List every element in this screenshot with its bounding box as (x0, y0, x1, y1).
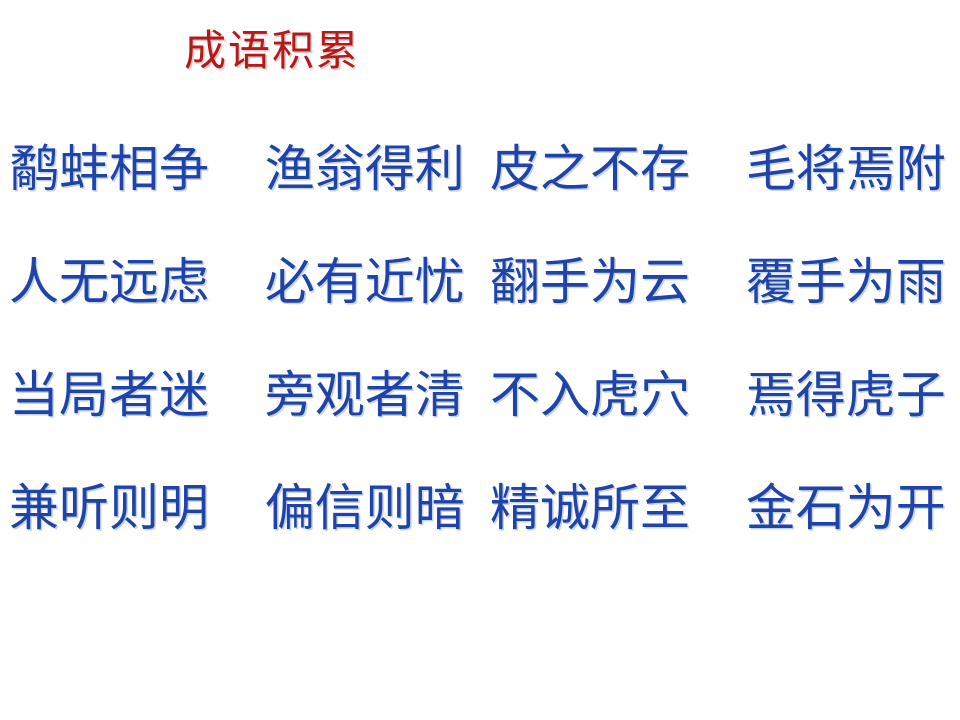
presentation-slide: 成语积累 鹬蚌相争 渔翁得利 皮之不存 毛将焉附 人无远虑 必有近忧 翻手 (0, 0, 960, 720)
idiom-first-half: 鹬蚌相争 (9, 140, 209, 198)
idiom-first-half: 精诚所至 (490, 479, 690, 537)
idiom-pair-left: 鹬蚌相争 渔翁得利 (9, 138, 465, 200)
idiom-pair-left: 兼听则明 偏信则暗 (9, 477, 465, 539)
idiom-first-half: 兼听则明 (9, 479, 209, 537)
idiom-second-half: 毛将焉附 (746, 140, 946, 198)
idiom-pair-left: 当局者迷 旁观者清 (9, 364, 465, 426)
idiom-row: 人无远虑 必有近忧 翻手为云 覆手为雨 (0, 251, 960, 364)
page-title: 成语积累 (184, 24, 360, 78)
idiom-second-half: 偏信则暗 (265, 479, 465, 537)
idiom-pair-right: 不入虎穴 焉得虎子 (490, 364, 946, 426)
idiom-pair-right: 皮之不存 毛将焉附 (490, 138, 946, 200)
idiom-first-half: 皮之不存 (490, 140, 690, 198)
idiom-pair-right: 精诚所至 金石为开 (490, 477, 946, 539)
idiom-pair-left: 人无远虑 必有近忧 (9, 251, 465, 313)
idiom-list: 鹬蚌相争 渔翁得利 皮之不存 毛将焉附 人无远虑 必有近忧 翻手为云 覆手为雨 (0, 138, 960, 590)
idiom-pair-right: 翻手为云 覆手为雨 (490, 251, 946, 313)
idiom-second-half: 覆手为雨 (746, 253, 946, 311)
idiom-second-half: 旁观者清 (265, 366, 465, 424)
idiom-first-half: 当局者迷 (9, 366, 209, 424)
idiom-second-half: 必有近忧 (265, 253, 465, 311)
idiom-second-half: 渔翁得利 (265, 140, 465, 198)
idiom-first-half: 翻手为云 (490, 253, 690, 311)
idiom-row: 鹬蚌相争 渔翁得利 皮之不存 毛将焉附 (0, 138, 960, 251)
idiom-second-half: 焉得虎子 (746, 366, 946, 424)
idiom-second-half: 金石为开 (746, 479, 946, 537)
idiom-first-half: 人无远虑 (9, 253, 209, 311)
idiom-first-half: 不入虎穴 (490, 366, 690, 424)
idiom-row: 当局者迷 旁观者清 不入虎穴 焉得虎子 (0, 364, 960, 477)
idiom-row: 兼听则明 偏信则暗 精诚所至 金石为开 (0, 477, 960, 590)
